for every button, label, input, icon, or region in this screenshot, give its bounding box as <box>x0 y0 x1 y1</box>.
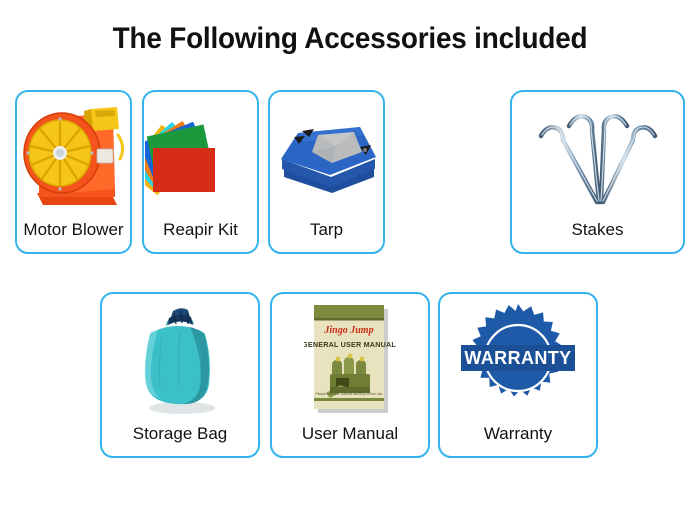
manual-heading-text: GENERAL USER MANUAL <box>304 340 396 349</box>
tarp-icon <box>270 92 383 221</box>
accessory-card-motor-blower[interactable]: Motor Blower <box>15 90 132 254</box>
accessory-card-stakes[interactable]: Stakes <box>510 90 685 254</box>
card-label: Storage Bag <box>133 425 228 456</box>
card-label: Tarp <box>310 221 343 252</box>
manual-brand-text: Jingo Jump <box>323 325 373 336</box>
accessory-card-storage-bag[interactable]: Storage Bag <box>100 292 260 458</box>
manual-footer-text: Please read this manual carefully before… <box>316 392 383 396</box>
accessory-card-user-manual[interactable]: Jingo Jump GENERAL USER MANUAL Please re… <box>270 292 430 458</box>
stakes-icon <box>512 92 683 221</box>
card-label: User Manual <box>302 425 398 456</box>
repair-kit-icon <box>144 92 257 221</box>
card-label: Warranty <box>484 425 552 456</box>
motor-blower-icon <box>17 92 130 221</box>
card-label: Stakes <box>572 221 624 252</box>
accessory-card-repair-kit[interactable]: Reapir Kit <box>142 90 259 254</box>
warranty-seal-icon: WARRANTY <box>440 294 596 425</box>
page-title: The Following Accessories included <box>25 22 676 56</box>
seal-banner-text: WARRANTY <box>464 348 571 368</box>
accessory-card-tarp[interactable]: Tarp <box>268 90 385 254</box>
user-manual-icon: Jingo Jump GENERAL USER MANUAL Please re… <box>272 294 428 425</box>
storage-bag-icon <box>102 294 258 425</box>
card-label: Motor Blower <box>23 221 123 252</box>
accessory-card-warranty[interactable]: WARRANTY Warranty <box>438 292 598 458</box>
card-label: Reapir Kit <box>163 221 238 252</box>
